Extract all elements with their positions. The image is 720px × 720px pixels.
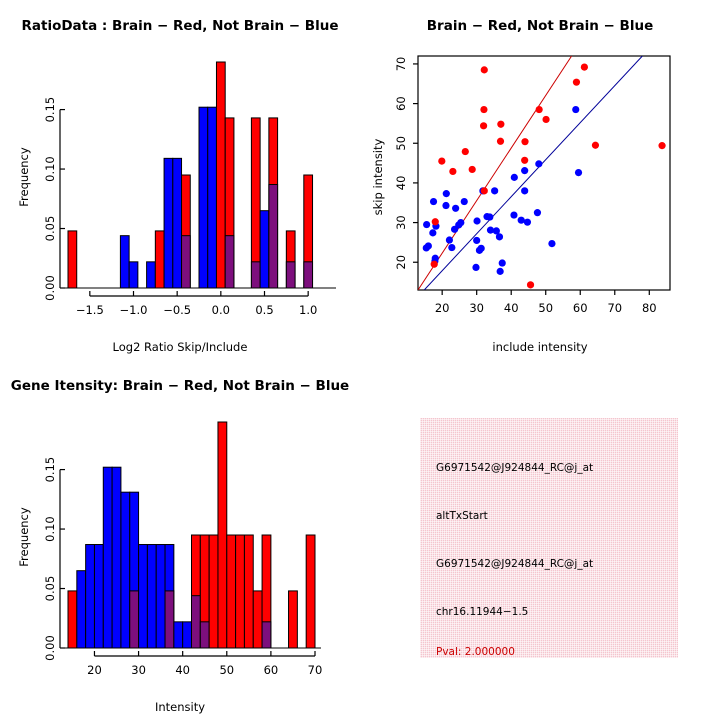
histogram-bar: [164, 158, 173, 288]
scatter-plot: 20304050607020304050607080: [360, 0, 720, 360]
histogram-bar-overlap: [225, 236, 234, 288]
gene-id-line: G6971542@J924844_RC@j_at: [436, 558, 593, 570]
scatter-ylabel: skip intensity: [371, 137, 385, 217]
scatter-point: [476, 247, 483, 254]
y-tick-label: 0.00: [43, 275, 57, 301]
histogram-bar: [218, 422, 227, 648]
histogram-bar: [244, 535, 253, 648]
histogram-bar: [103, 467, 112, 648]
histogram-bar: [86, 545, 95, 648]
scatter-point: [592, 142, 599, 149]
x-tick-label: 30: [131, 663, 146, 677]
histogram-bar: [147, 545, 156, 648]
y-axis: 0.000.050.100.15: [43, 97, 65, 301]
y-axis: 203040506070: [394, 57, 418, 270]
ratio-histogram-ylabel: Frequency: [17, 137, 31, 217]
histogram-bar: [94, 545, 103, 648]
x-tick-label: 1.0: [299, 303, 317, 317]
x-tick-label: 50: [538, 301, 553, 315]
histogram-bar: [129, 262, 138, 288]
scatter-point: [423, 221, 430, 228]
y-tick-label: 0.15: [43, 457, 57, 483]
y-tick-label: 0.05: [43, 216, 57, 242]
y-tick-label: 0.15: [43, 97, 57, 123]
y-tick-label: 0.10: [43, 516, 57, 542]
histogram-bar: [77, 571, 86, 648]
histogram-bar: [216, 62, 225, 288]
y-axis: 0.000.050.100.15: [43, 457, 65, 661]
x-tick-label: 0.0: [212, 303, 230, 317]
histogram-bar: [156, 545, 165, 648]
gene-intensity-histogram-panel: Gene Itensity: Brain − Red, Not Brain − …: [0, 360, 360, 720]
x-tick-label: 20: [87, 663, 102, 677]
scatter-point: [481, 66, 488, 73]
histogram-bar: [253, 591, 262, 648]
histogram-bar: [155, 231, 164, 288]
histogram-bar: [199, 107, 208, 288]
histogram-bar: [173, 158, 182, 288]
histogram-bars: [68, 422, 315, 648]
ratio-histogram-title: RatioData : Brain − Red, Not Brain − Blu…: [0, 18, 360, 34]
scatter-point: [581, 64, 588, 71]
scatter-panel: Brain − Red, Not Brain − Blue 2030405060…: [360, 0, 720, 360]
scatter-point: [491, 187, 498, 194]
histogram-bar: [260, 211, 269, 288]
not-brain-fit-line: [424, 56, 642, 290]
y-tick-label: 0.00: [43, 635, 57, 661]
scatter-point: [448, 244, 455, 251]
gene-intensity-histogram-plot: 0.000.050.100.15203040506070: [0, 360, 360, 720]
scatter-point: [451, 226, 458, 233]
scatter-point: [449, 168, 456, 175]
y-tick-label: 0.10: [43, 156, 57, 182]
histogram-bar-overlap: [286, 262, 295, 288]
scatter-point: [473, 237, 480, 244]
scatter-point: [446, 236, 453, 243]
scatter-xlabel: include intensity: [360, 340, 720, 354]
x-tick-label: −1.0: [120, 303, 148, 317]
scatter-point: [461, 198, 468, 205]
histogram-bars: [68, 62, 313, 288]
scatter-point: [548, 240, 555, 247]
scatter-point: [524, 219, 531, 226]
histogram-bar-overlap: [304, 262, 313, 288]
x-axis: −1.5−1.0−0.50.00.51.0: [60, 288, 336, 317]
scatter-point: [423, 244, 430, 251]
histogram-bar-overlap: [251, 262, 260, 288]
histogram-bar: [121, 492, 130, 648]
scatter-point: [534, 209, 541, 216]
scatter-point: [481, 187, 488, 194]
histogram-bar: [174, 622, 183, 648]
figure-canvas: RatioData : Brain − Red, Not Brain − Blu…: [0, 0, 720, 720]
histogram-bar: [120, 236, 129, 288]
histogram-bar: [147, 262, 156, 288]
scatter-point: [497, 138, 504, 145]
scatter-point: [432, 218, 439, 225]
ratio-histogram-plot: 0.000.050.100.15−1.5−1.0−0.50.00.51.0: [0, 0, 360, 360]
ratio-histogram-xlabel: Log2 Ratio Skip/Include: [0, 340, 360, 354]
scatter-point: [575, 169, 582, 176]
gene-intensity-xlabel: Intensity: [0, 700, 360, 714]
scatter-point: [542, 116, 549, 123]
scatter-point: [452, 205, 459, 212]
x-tick-label: 40: [175, 663, 190, 677]
scatter-point: [521, 167, 528, 174]
y-tick-label: 0.05: [43, 576, 57, 602]
histogram-bar-overlap: [192, 596, 201, 648]
histogram-bar: [112, 467, 121, 648]
scatter-point: [473, 217, 480, 224]
scatter-point: [658, 142, 665, 149]
scatter-point: [521, 187, 528, 194]
scatter-point: [518, 217, 525, 224]
scatter-point: [480, 106, 487, 113]
y-tick-label: 70: [394, 57, 408, 72]
histogram-bar-overlap: [182, 236, 191, 288]
x-tick-label: 40: [504, 301, 519, 315]
histogram-bar: [68, 591, 77, 648]
histogram-bar-overlap: [200, 622, 209, 648]
histogram-bar: [236, 535, 245, 648]
histogram-bar: [68, 231, 77, 288]
x-axis: 203040506070: [60, 648, 322, 677]
x-axis: 20304050607080: [435, 290, 657, 315]
scatter-point: [480, 122, 487, 129]
x-tick-label: 30: [469, 301, 484, 315]
scatter-point: [497, 268, 504, 275]
histogram-bar: [183, 622, 192, 648]
x-tick-label: 20: [435, 301, 450, 315]
histogram-bar: [289, 591, 298, 648]
histogram-bar: [306, 535, 315, 648]
x-tick-label: −0.5: [163, 303, 191, 317]
annotation-box: G6971542@J924844_RC@j_at altTxStart G697…: [420, 418, 678, 658]
scatter-point: [535, 160, 542, 167]
x-tick-label: 60: [264, 663, 279, 677]
x-tick-label: 0.5: [255, 303, 273, 317]
gene-intensity-histogram-title: Gene Itensity: Brain − Red, Not Brain − …: [0, 378, 360, 394]
histogram-bar: [139, 545, 148, 648]
scatter-point: [497, 121, 504, 128]
locus-line: chr16.11944−1.5: [436, 606, 528, 618]
x-tick-label: 50: [219, 663, 234, 677]
probe-id-line: G6971542@J924844_RC@j_at: [436, 462, 593, 474]
scatter-point: [536, 106, 543, 113]
histogram-bar: [208, 107, 217, 288]
scatter-point: [510, 211, 517, 218]
y-tick-label: 40: [394, 176, 408, 191]
scatter-point: [527, 281, 534, 288]
histogram-bar-overlap: [165, 591, 174, 648]
scatter-point: [521, 157, 528, 164]
scatter-point: [511, 174, 518, 181]
scatter-title: Brain − Red, Not Brain − Blue: [360, 18, 720, 34]
scatter-point: [521, 138, 528, 145]
scatter-point: [443, 190, 450, 197]
scatter-point: [429, 229, 436, 236]
x-tick-label: 80: [642, 301, 657, 315]
y-tick-label: 50: [394, 136, 408, 151]
histogram-bar-overlap: [269, 185, 278, 288]
gene-intensity-ylabel: Frequency: [17, 497, 31, 577]
scatter-point: [442, 202, 449, 209]
scatter-point: [572, 106, 579, 113]
scatter-point: [472, 264, 479, 271]
event-type-line: altTxStart: [436, 510, 488, 522]
histogram-bar: [209, 535, 218, 648]
plot-inner: [418, 56, 666, 290]
x-tick-label: 60: [573, 301, 588, 315]
histogram-bar-overlap: [262, 622, 271, 648]
x-tick-label: 70: [308, 663, 323, 677]
histogram-bar-overlap: [130, 591, 139, 648]
histogram-bar: [227, 535, 236, 648]
scatter-point: [499, 259, 506, 266]
ratio-histogram-panel: RatioData : Brain − Red, Not Brain − Blu…: [0, 0, 360, 360]
pval-line: Pval: 2.000000: [436, 646, 515, 658]
scatter-point: [462, 148, 469, 155]
scatter-point: [573, 79, 580, 86]
x-tick-label: −1.5: [76, 303, 104, 317]
x-tick-label: 70: [607, 301, 622, 315]
scatter-point: [431, 261, 438, 268]
scatter-point: [486, 213, 493, 220]
y-tick-label: 60: [394, 96, 408, 111]
scatter-point: [430, 198, 437, 205]
scatter-point: [487, 227, 494, 234]
y-tick-label: 30: [394, 215, 408, 230]
brain-fit-line: [418, 56, 572, 290]
scatter-point: [438, 158, 445, 165]
scatter-point: [496, 233, 503, 240]
annotation-panel: G6971542@J924844_RC@j_at altTxStart G697…: [360, 360, 720, 720]
y-tick-label: 20: [394, 255, 408, 270]
scatter-point: [469, 166, 476, 173]
